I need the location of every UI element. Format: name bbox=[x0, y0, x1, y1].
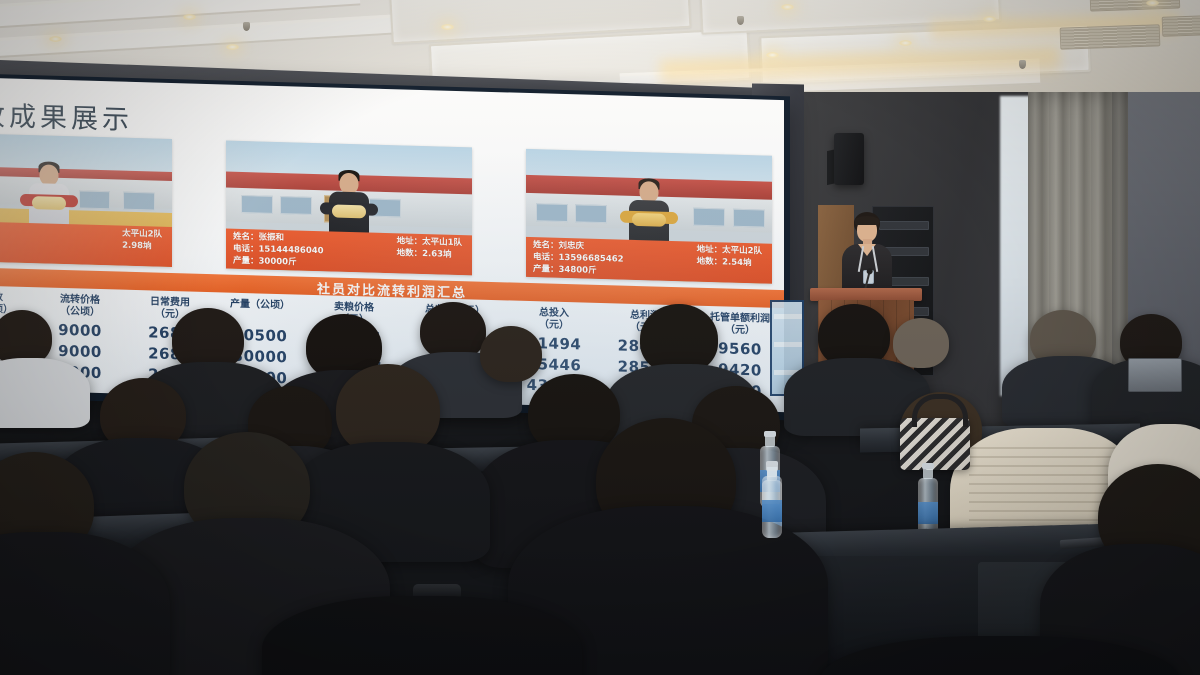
photo-card-row: 李亭霞 13904354379 32000斤 太平山2队 2.98垧 bbox=[0, 132, 784, 288]
sprinkler-icon bbox=[737, 16, 744, 25]
caption-name: 刘忠庆 bbox=[559, 241, 585, 252]
caption-yield-label: 产量： bbox=[533, 264, 559, 275]
air-vent-icon bbox=[1162, 15, 1200, 37]
caption-yield: 30000斤 bbox=[259, 256, 297, 267]
pa-speaker-icon bbox=[834, 133, 864, 185]
caption-phone: 13596685462 bbox=[559, 253, 624, 265]
water-bottle bbox=[762, 476, 782, 538]
caption-yield: 34800斤 bbox=[559, 265, 597, 276]
laptop bbox=[1128, 358, 1182, 392]
caption-area: 2.63垧 bbox=[422, 249, 451, 260]
caption-area: 2.98垧 bbox=[122, 241, 151, 253]
sprinkler-icon bbox=[243, 22, 250, 31]
sprinkler-icon bbox=[1019, 60, 1026, 69]
air-vent-icon bbox=[1060, 24, 1161, 49]
conference-room-photo: 收成果展示 bbox=[0, 0, 1200, 675]
photo-card: 姓名：刘忠庆 电话：13596685462 产量：34800斤 地址：太平山2队… bbox=[526, 149, 772, 284]
caption-area: 2.54垧 bbox=[722, 257, 751, 268]
slide-title: 收成果展示 bbox=[0, 94, 133, 137]
caption-area-label: 地数： bbox=[397, 248, 423, 259]
caption-address: 太平山2队 bbox=[122, 229, 162, 241]
caption-address-label: 地址： bbox=[697, 245, 723, 256]
caption-address: 太平山1队 bbox=[422, 237, 462, 248]
caption-name-label: 姓名： bbox=[233, 232, 259, 243]
caption-yield-label: 产量： bbox=[233, 256, 259, 267]
caption-phone-label: 电话： bbox=[233, 244, 259, 255]
caption-phone: 15144486040 bbox=[259, 244, 324, 256]
caption-area-label: 地数： bbox=[697, 257, 723, 268]
photo-card: 李亭霞 13904354379 32000斤 太平山2队 2.98垧 bbox=[0, 132, 172, 267]
air-vent-icon bbox=[1090, 0, 1180, 12]
photo-card: 姓名：张振和 电话：15144486040 产量：30000斤 地址：太平山1队… bbox=[226, 141, 472, 276]
caption-phone-label: 电话： bbox=[533, 252, 559, 263]
photo-caption: 姓名：刘忠庆 电话：13596685462 产量：34800斤 地址：太平山2队… bbox=[526, 237, 772, 284]
caption-name-label: 姓名： bbox=[533, 240, 559, 251]
caption-address: 太平山2队 bbox=[722, 245, 762, 256]
photo-caption: 姓名：张振和 电话：15144486040 产量：30000斤 地址：太平山1队… bbox=[226, 229, 472, 276]
audience-area bbox=[0, 300, 1200, 675]
handbag bbox=[900, 418, 970, 470]
caption-name: 张振和 bbox=[259, 232, 285, 243]
caption-address-label: 地址： bbox=[397, 236, 423, 247]
photo-caption: 李亭霞 13904354379 32000斤 太平山2队 2.98垧 bbox=[0, 220, 172, 267]
